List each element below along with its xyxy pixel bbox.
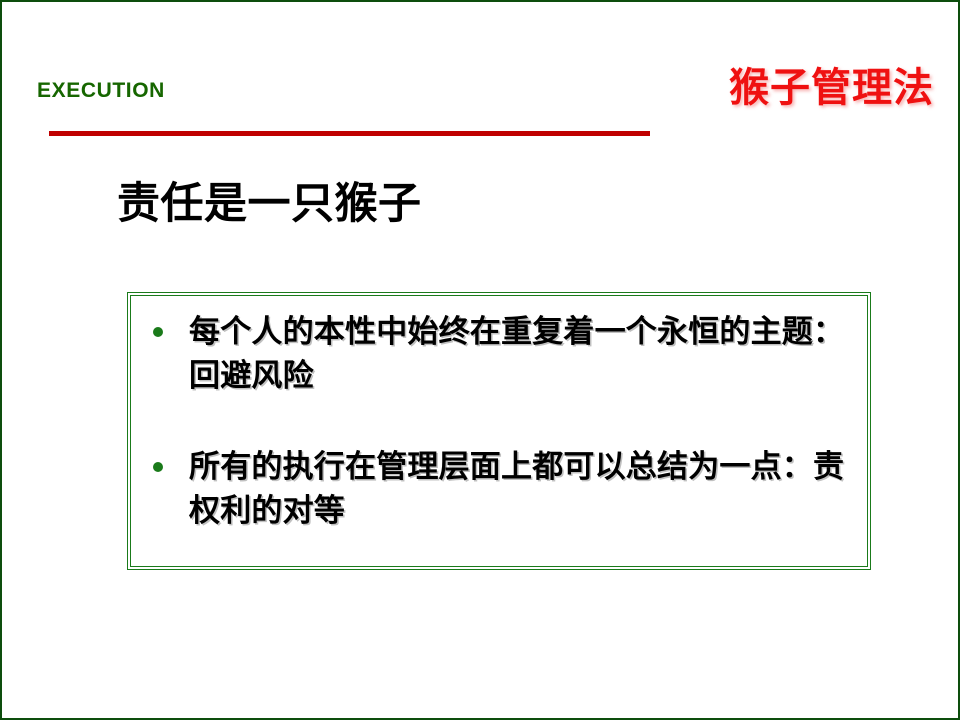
bullet-dot-icon — [153, 462, 163, 472]
bullet-text: 每个人的本性中始终在重复着一个永恒的主题：回避风险 — [189, 314, 844, 393]
slide-canvas: EXECUTION 猴子管理法 责任是一只猴子 每个人的本性中始终在重复着一个永… — [0, 0, 960, 720]
header-red-rule — [49, 131, 650, 136]
list-item: 每个人的本性中始终在重复着一个永恒的主题：回避风险 — [141, 310, 851, 399]
bullet-content-box: 每个人的本性中始终在重复着一个永恒的主题：回避风险 所有的执行在管理层面上都可以… — [127, 292, 871, 570]
slide-kicker-execution: EXECUTION — [37, 80, 165, 101]
list-item: 所有的执行在管理层面上都可以总结为一点：责权利的对等 — [141, 445, 851, 534]
bullet-text: 所有的执行在管理层面上都可以总结为一点：责权利的对等 — [189, 449, 844, 528]
slide-brand-title: 猴子管理法 — [729, 66, 934, 110]
bullet-list: 每个人的本性中始终在重复着一个永恒的主题：回避风险 所有的执行在管理层面上都可以… — [141, 310, 851, 533]
section-heading: 责任是一只猴子 — [117, 180, 422, 229]
bullet-dot-icon — [153, 327, 163, 337]
